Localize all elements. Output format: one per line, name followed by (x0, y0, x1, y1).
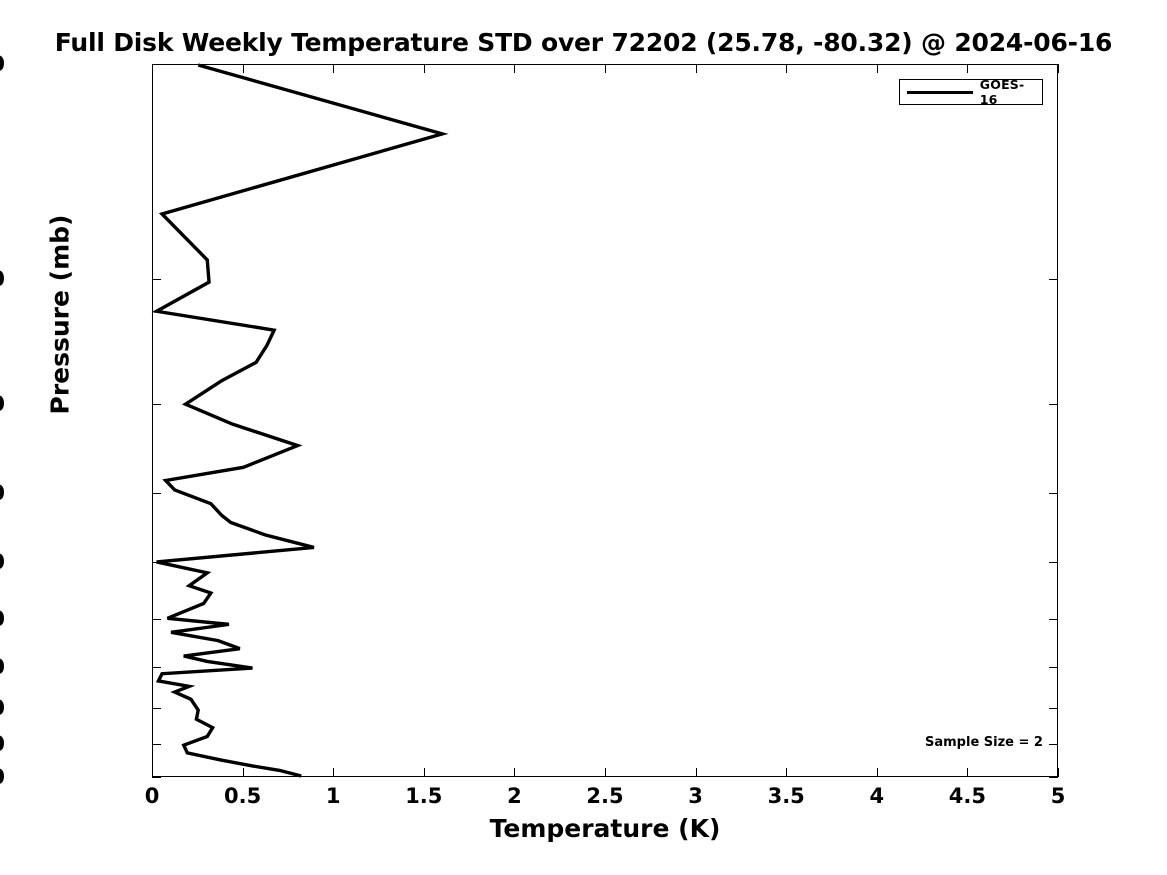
y-tick-label: 900 (0, 732, 5, 756)
y-tick-label: 500 (0, 550, 5, 574)
x-tick-label: 2 (507, 784, 522, 808)
page-title: Full Disk Weekly Temperature STD over 72… (0, 28, 1167, 57)
x-tick-label: 2.5 (586, 784, 623, 808)
x-tick-label: 0 (145, 784, 160, 808)
legend-item-label: GOES-16 (980, 77, 1042, 107)
y-tick-label: 300 (0, 392, 5, 416)
x-tick-label: 5 (1051, 784, 1066, 808)
x-tick-label: 1 (326, 784, 341, 808)
x-tick-label: 3.5 (768, 784, 805, 808)
chart-figure: Full Disk Weekly Temperature STD over 72… (0, 0, 1167, 875)
y-tick-label: 1000 (0, 765, 5, 789)
y-tick-label: 400 (0, 481, 5, 505)
plot-area (152, 64, 1058, 777)
x-tick-label: 0.5 (224, 784, 261, 808)
x-tick-mark (1058, 64, 1059, 73)
y-tick-mark (1049, 777, 1058, 778)
x-tick-label: 3 (688, 784, 703, 808)
data-line-chart (153, 65, 1057, 776)
x-tick-label: 4.5 (949, 784, 986, 808)
y-axis-label: Pressure (mb) (46, 195, 75, 435)
y-tick-label: 800 (0, 696, 5, 720)
y-tick-label: 100 (0, 52, 5, 76)
chart-legend: GOES-16 (899, 79, 1043, 105)
y-tick-mark (152, 777, 161, 778)
legend-line-swatch (907, 91, 973, 94)
x-tick-label: 1.5 (405, 784, 442, 808)
y-tick-label: 200 (0, 267, 5, 291)
series-line-goes-16 (157, 65, 443, 776)
x-tick-label: 4 (869, 784, 884, 808)
x-axis-label: Temperature (K) (152, 814, 1058, 843)
y-tick-label: 700 (0, 655, 5, 679)
x-tick-mark (1058, 768, 1059, 777)
sample-size-annotation: Sample Size = 2 (925, 735, 1043, 750)
y-tick-label: 600 (0, 607, 5, 631)
